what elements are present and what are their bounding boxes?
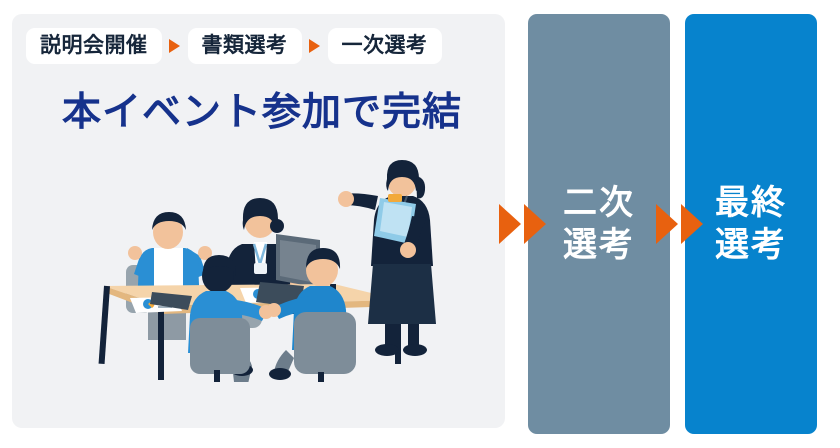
stage-label-second-screening: 二次 選考 [563, 182, 635, 267]
stage-panel-second-screening[interactable]: 二次 選考 [528, 14, 670, 434]
selection-flow-banner: 説明会開催 書類選考 一次選考 本イベント参加で完結 [0, 0, 840, 448]
stage-label-final-screening: 最終 選考 [715, 182, 787, 267]
page-title: 本イベント参加で完結 [62, 92, 462, 135]
triangle-right-icon [169, 39, 180, 53]
step-pill-document-screening: 書類選考 [188, 28, 302, 64]
step-separator-1 [162, 39, 188, 53]
double-chevron-right-icon [497, 198, 549, 250]
double-chevron-right-icon [654, 198, 706, 250]
step-pill-first-screening: 一次選考 [328, 28, 442, 64]
business-meeting-illustration [90, 160, 452, 382]
triangle-right-icon [309, 39, 320, 53]
step-separator-2 [302, 39, 328, 53]
step-pill-briefing: 説明会開催 [26, 28, 162, 64]
pre-steps-breadcrumb: 説明会開催 書類選考 一次選考 [26, 28, 442, 64]
